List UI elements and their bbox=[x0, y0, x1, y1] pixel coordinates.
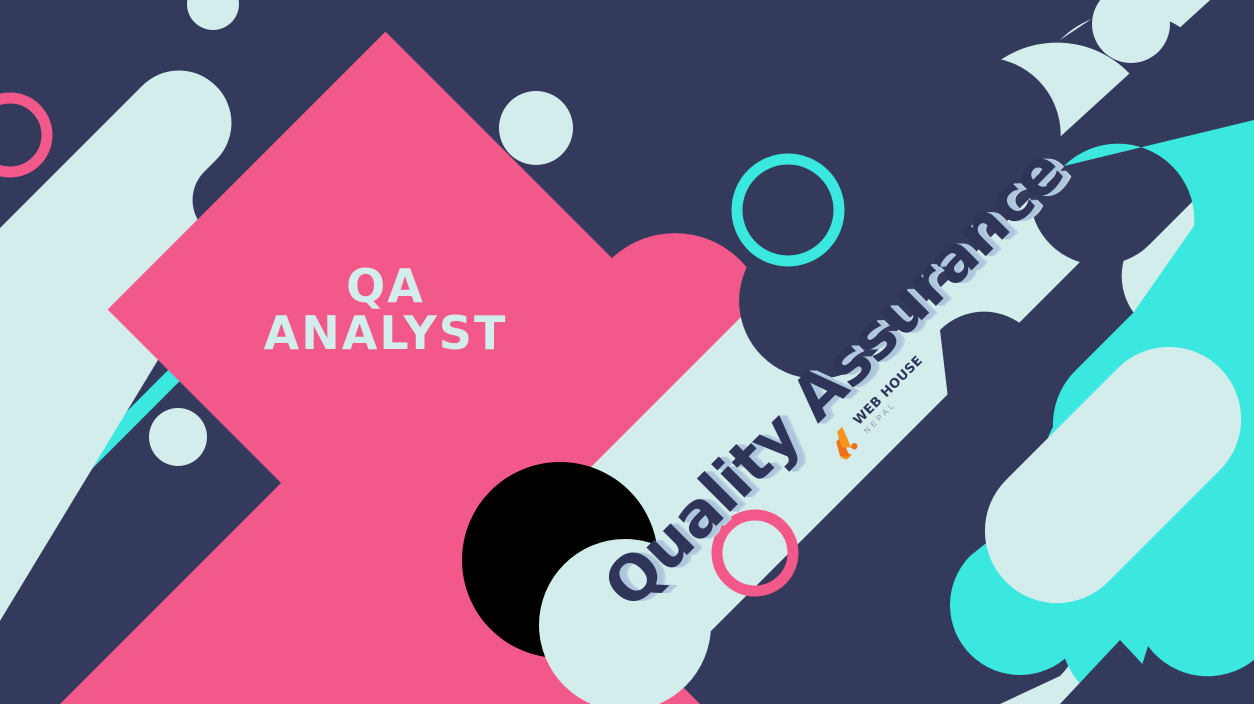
brand-logo: WEB HOUSE NEPAL bbox=[812, 335, 952, 475]
badge-title-line1: QA bbox=[346, 263, 425, 310]
qa-analyst-badge: QA ANALYST bbox=[189, 113, 582, 506]
badge-title-line2: ANALYST bbox=[264, 310, 508, 357]
poster-canvas: QA ANALYST Quality Assurance WEB HOUSE N… bbox=[0, 0, 1254, 704]
diamond-label-group: QA ANALYST bbox=[189, 113, 582, 506]
brand-logo-words: WEB HOUSE NEPAL bbox=[852, 354, 933, 435]
brand-logo-inner: WEB HOUSE NEPAL bbox=[783, 306, 981, 504]
brand-name: WEB HOUSE bbox=[852, 354, 926, 428]
